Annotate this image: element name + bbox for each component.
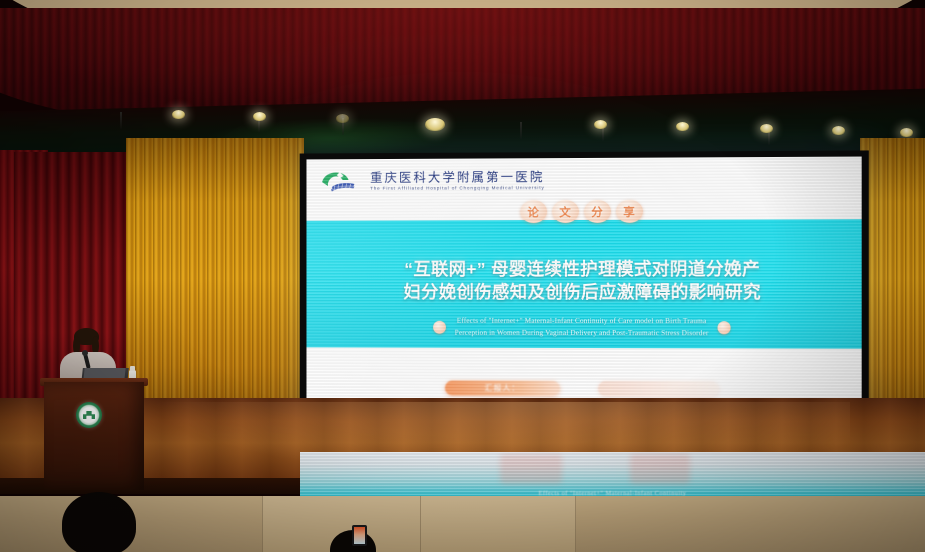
audience-head-1 bbox=[62, 492, 136, 552]
subtitle-dot-left-icon bbox=[433, 321, 446, 334]
slide-title-cn-line2: 妇分娩创伤感知及创伤后应激障碍的影响研究 bbox=[328, 281, 839, 304]
audience-phone bbox=[352, 525, 367, 546]
topic-badges: 论 文 分 享 bbox=[306, 199, 861, 224]
spotlight-1 bbox=[172, 110, 185, 119]
hospital-name-cn: 重庆医科大学附属第一医院 bbox=[370, 171, 545, 184]
spotlight-arm-1 bbox=[120, 112, 122, 129]
lower-led-strip: Effects of "Internet+" Maternal-Infant C… bbox=[300, 452, 925, 500]
microphone-head bbox=[82, 350, 88, 356]
apron-panel-right bbox=[420, 496, 576, 552]
spotlight-3 bbox=[336, 114, 349, 123]
spotlight-arm-4 bbox=[520, 122, 522, 139]
gold-curtain-left bbox=[126, 138, 304, 430]
slide-subtitle-en: Effects of "Internet+" Maternal-Infant C… bbox=[455, 316, 709, 340]
slide-subtitle-en-line1: Effects of "Internet+" Maternal-Infant C… bbox=[455, 316, 709, 328]
spotlight-5 bbox=[594, 120, 607, 129]
slide-title-cn: “互联网+” 母婴连续性护理模式对阴道分娩产 妇分娩创伤感知及创伤后应激障碍的影… bbox=[306, 258, 861, 304]
slide-subtitle-row: Effects of "Internet+" Maternal-Infant C… bbox=[306, 316, 861, 340]
slide-title-cn-line1: “互联网+” 母婴连续性护理模式对阴道分娩产 bbox=[328, 258, 839, 281]
slide-header: 重庆医科大学附属第一医院 The First Affiliated Hospit… bbox=[306, 157, 861, 205]
water-bottle-cap bbox=[130, 366, 135, 371]
slide-subtitle-en-line2: Perception in Women During Vaginal Deliv… bbox=[455, 327, 709, 339]
gold-curtain-right bbox=[860, 138, 925, 430]
subtitle-dot-right-icon bbox=[718, 321, 731, 334]
spotlight-9 bbox=[900, 128, 913, 137]
spotlight-4 bbox=[425, 118, 445, 131]
auditorium-photo: 重庆医科大学附属第一医院 The First Affiliated Hospit… bbox=[0, 0, 925, 552]
spotlight-8 bbox=[832, 126, 845, 135]
spotlight-6 bbox=[676, 122, 689, 131]
spotlight-7 bbox=[760, 124, 773, 133]
medical-cross-emblem-icon bbox=[76, 402, 102, 428]
hospital-name-block: 重庆医科大学附属第一医院 The First Affiliated Hospit… bbox=[370, 171, 545, 192]
badge-fen: 分 bbox=[583, 200, 610, 223]
presenter-pills: 汇报人： bbox=[306, 380, 861, 397]
badge-lun: 论 bbox=[520, 200, 547, 223]
presenter-pill-secondary bbox=[598, 381, 719, 397]
led-screen[interactable]: 重庆医科大学附属第一医院 The First Affiliated Hospit… bbox=[300, 150, 869, 425]
spotlight-2 bbox=[253, 112, 266, 121]
presentation-slide: 重庆医科大学附属第一医院 The First Affiliated Hospit… bbox=[306, 157, 861, 420]
podium bbox=[44, 382, 144, 490]
hospital-logo bbox=[320, 169, 361, 195]
phone-screen bbox=[354, 527, 365, 544]
hospital-name-en: The First Affiliated Hospital of Chongqi… bbox=[370, 187, 545, 192]
badge-wen: 文 bbox=[552, 200, 579, 223]
presenter-pill-primary: 汇报人： bbox=[445, 380, 560, 395]
badge-xiang: 享 bbox=[615, 200, 642, 223]
